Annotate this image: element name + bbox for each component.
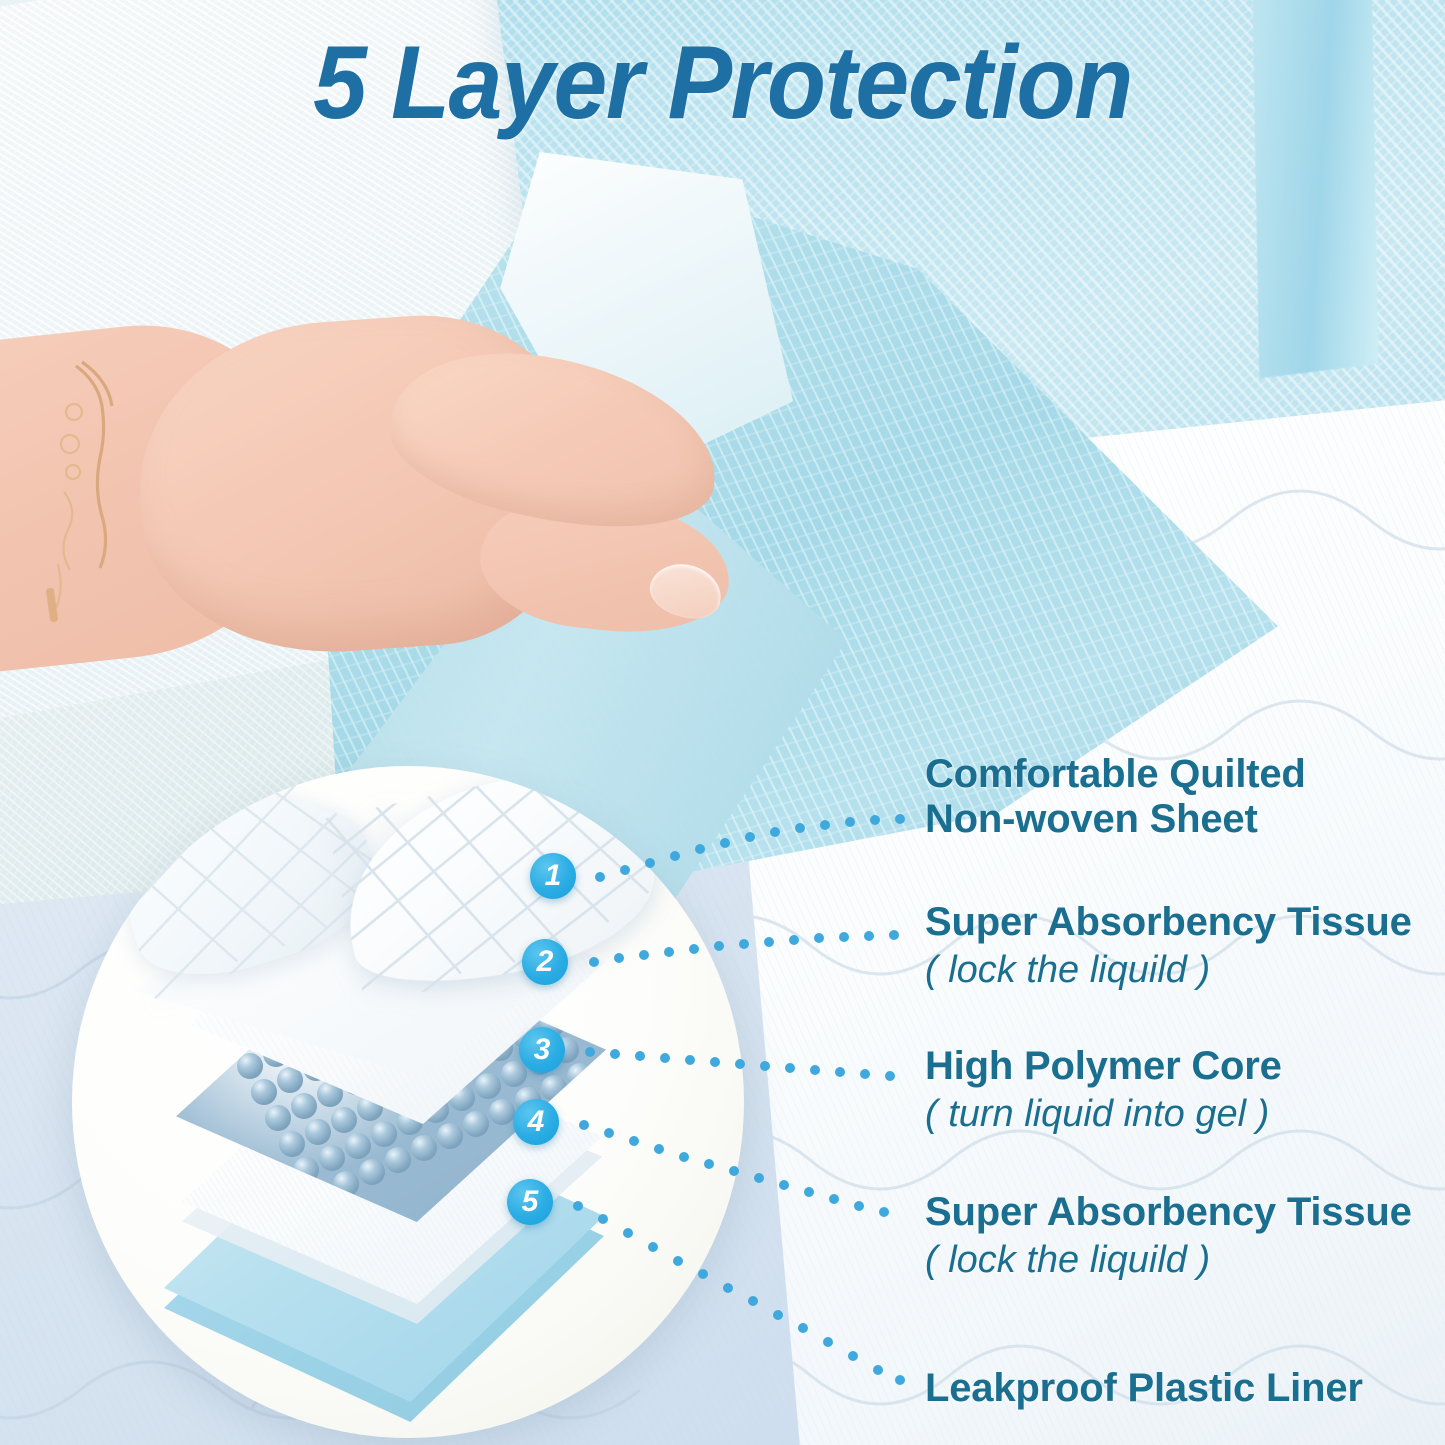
layer-1-quilted-sheet-top	[326, 766, 669, 1004]
layer-label-2-title: Super Absorbency Tissue	[925, 900, 1412, 945]
layer-label-4: Super Absorbency Tissue ( lock the liqui…	[925, 1190, 1412, 1283]
layer-label-2: Super Absorbency Tissue ( lock the liqui…	[925, 900, 1412, 993]
layer-label-1-title: Comfortable Quilted	[925, 752, 1306, 797]
layer-label-5: Leakproof Plastic Liner	[925, 1366, 1363, 1411]
layer-label-4-note: ( lock the liquild )	[925, 1238, 1412, 1284]
layer-label-1-title-line2: Non-woven Sheet	[925, 797, 1306, 842]
layer-badge-3[interactable]: 3	[519, 1027, 565, 1073]
layer-label-5-title: Leakproof Plastic Liner	[925, 1366, 1363, 1411]
layer-badge-5[interactable]: 5	[507, 1179, 553, 1225]
layer-label-2-note: ( lock the liquild )	[925, 948, 1412, 994]
layer-badge-1[interactable]: 1	[530, 853, 576, 899]
bracelet-icon	[18, 352, 248, 632]
layer-label-3-note: ( turn liquid into gel )	[925, 1092, 1282, 1138]
layer-badge-2[interactable]: 2	[522, 939, 568, 985]
layer-label-3: High Polymer Core ( turn liquid into gel…	[925, 1044, 1282, 1137]
layer-badge-4[interactable]: 4	[513, 1099, 559, 1145]
quilt-pattern-top-icon	[326, 766, 669, 1004]
layer-label-1: Comfortable Quilted Non-woven Sheet	[925, 752, 1306, 842]
hand	[0, 170, 780, 530]
page-title: 5 Layer Protection	[51, 24, 1395, 143]
infographic-canvas: 1 2 3 4 5 Comfortable Quilted Non-woven …	[0, 0, 1445, 1445]
layer-stack-inset	[72, 766, 744, 1438]
layer-label-3-title: High Polymer Core	[925, 1044, 1282, 1089]
layer-label-4-title: Super Absorbency Tissue	[925, 1190, 1412, 1235]
